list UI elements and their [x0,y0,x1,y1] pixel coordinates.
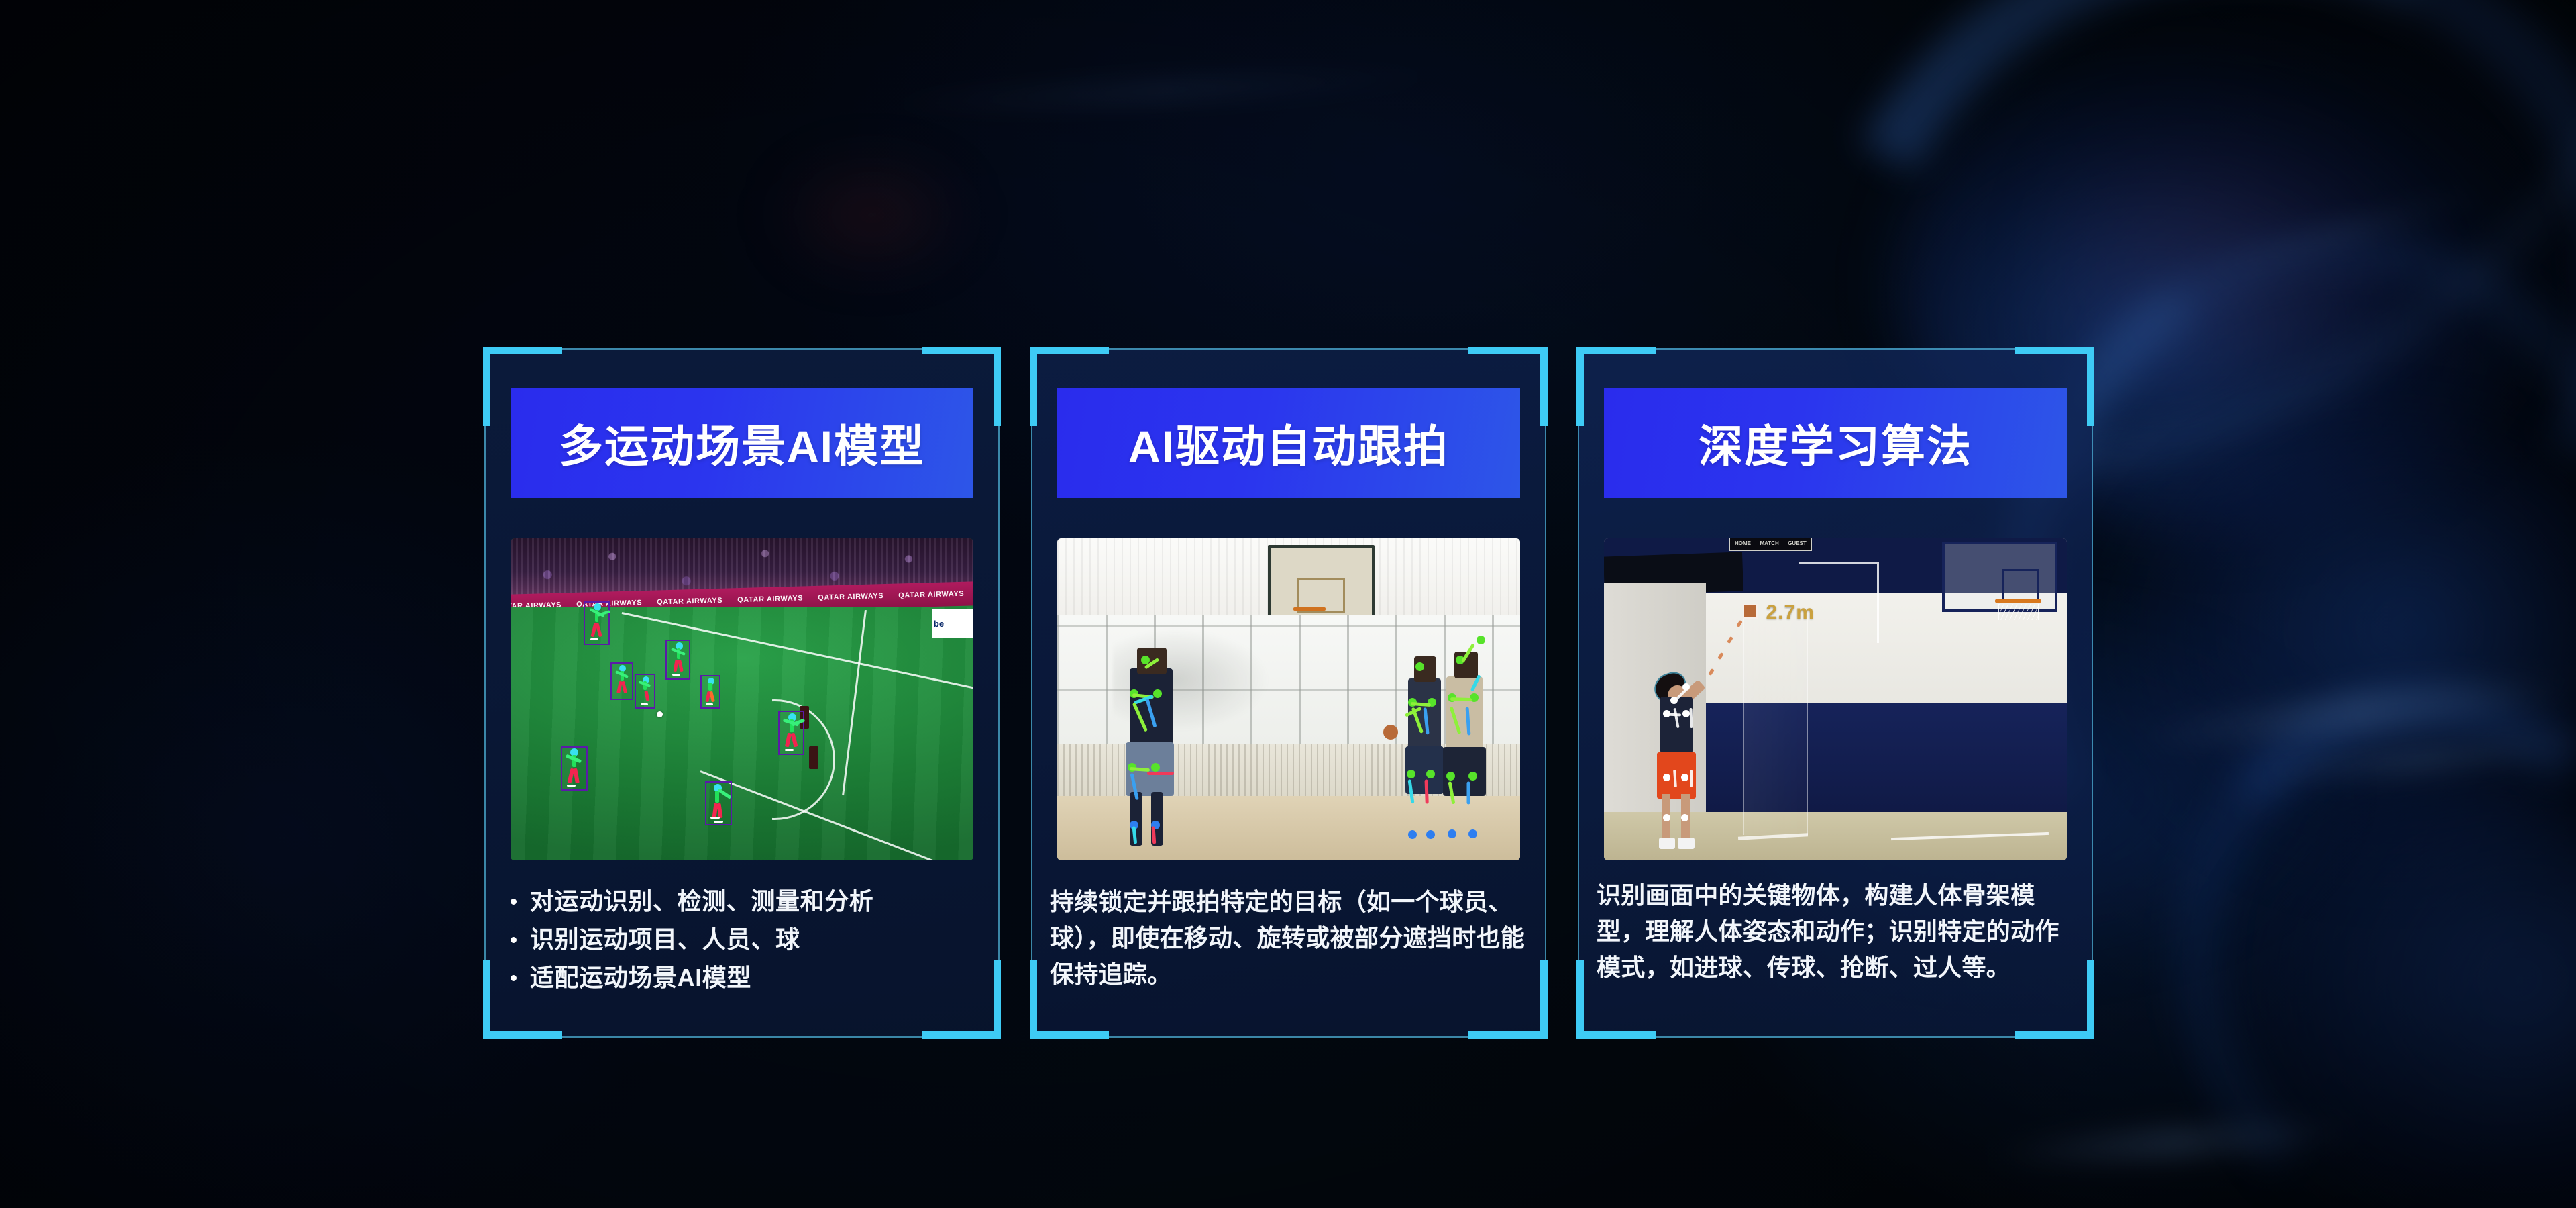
card-media-basketball-pose [1057,538,1520,860]
detection-box [635,674,655,709]
feature-bullet-list: 对运动识别、检测、测量和分析 识别运动项目、人员、球 适配运动场景AI模型 [511,884,973,996]
card-title: AI驱动自动跟拍 [1128,411,1449,475]
detection-box [705,781,732,825]
hoop-rim [1995,599,2041,603]
card-media-shot-trajectory: HOME MATCH GUEST 2.7m [1604,538,2067,860]
advert-banner-text: QATAR AIRWAYS [737,595,803,605]
card-body: 对运动识别、检测、测量和分析 识别运动项目、人员、球 适配运动场景AI模型 [511,884,973,999]
card-description: 识别画面中的关键物体，构建人体骨架模型，理解人体姿态和动作；识别特定的动作模式，… [1597,877,2077,986]
detection-box [584,601,610,645]
feature-card-row: 多运动场景AI模型 QATAR AIRWAYS QATAR AIRWAYS QA… [0,0,2576,1208]
ball-tracking-box [1743,604,1758,619]
player-unboxed [809,746,818,769]
hoop-net [1998,604,2039,620]
bullet-text: 识别运动项目、人员、球 [530,922,800,958]
player-shoe [1678,838,1694,849]
player-figure [1108,648,1205,854]
card-title: 多运动场景AI模型 [559,411,925,475]
detection-box [665,640,690,680]
feature-card-multi-sport-ai-model[interactable]: 多运动场景AI模型 QATAR AIRWAYS QATAR AIRWAYS QA… [484,348,1000,1038]
card-description: 持续锁定并跟拍特定的目标（如一个球员、球），即使在移动、旋转或被部分遮挡时也能保… [1050,884,1527,993]
pose-skeleton [1428,648,1506,854]
card-header-band: 多运动场景AI模型 [511,388,973,498]
bullet-dot-icon [511,899,517,905]
detection-box [778,711,804,755]
pitch-grass [511,607,973,860]
feature-card-deep-learning-algorithm[interactable]: 深度学习算法 HOME MATCH GUEST [1578,348,2093,1038]
gym-frame [1057,538,1520,860]
card-header-band: AI驱动自动跟拍 [1057,388,1520,498]
detection-box [561,746,588,791]
card-header-band: 深度学习算法 [1604,388,2067,498]
bullet-text: 对运动识别、检测、测量和分析 [530,884,873,919]
advert-banner-text: QATAR AIRWAYS [818,592,883,602]
measurement-guide-horizontal [1799,562,1877,564]
pose-skeleton [1108,648,1205,854]
scoreboard-label: HOME [1735,540,1751,546]
player-figure [1428,648,1506,854]
advert-banner-text: QATAR AIRWAYS [898,590,964,600]
pose-skeleton [562,748,586,789]
bullet-dot-icon [511,975,517,981]
hoop-rim [1293,607,1326,611]
pose-skeleton [706,783,731,824]
player-figure-shooter [1641,680,1715,848]
court-frame: HOME MATCH GUEST 2.7m [1604,538,2067,860]
card-media-soccer-detection: QATAR AIRWAYS QATAR AIRWAYS QATAR AIRWAY… [511,538,973,860]
backboard-inner-square [2002,569,2039,601]
bullet-item: 适配运动场景AI模型 [511,960,973,996]
card-body: 持续锁定并跟拍特定的目标（如一个球员、球），即使在移动、旋转或被部分遮挡时也能保… [1050,884,1527,993]
scoreboard-label: MATCH [1760,540,1778,546]
scoreboard-label: GUEST [1788,540,1807,546]
measurement-guide-vertical [1877,562,1879,643]
pose-skeleton [667,641,689,678]
pose-skeleton [636,675,654,707]
pose-skeleton [702,676,719,707]
distance-annotation: 2.7m [1766,601,1815,624]
pose-skeleton [612,664,632,699]
card-body: 识别画面中的关键物体，构建人体骨架模型，理解人体姿态和动作；识别特定的动作模式，… [1597,877,2077,986]
tracking-plane-overlay [1743,609,1808,835]
bullet-text: 适配运动场景AI模型 [530,960,751,996]
player-shoe [1659,838,1675,849]
soccer-pitch-frame: QATAR AIRWAYS QATAR AIRWAYS QATAR AIRWAY… [511,538,973,860]
scoreboard: HOME MATCH GUEST [1729,538,1812,551]
bullet-dot-icon [511,937,517,943]
detection-box [610,662,633,700]
pitch-sponsor-logo: be [932,609,973,638]
bullet-item: 识别运动项目、人员、球 [511,922,973,958]
feature-card-ai-auto-tracking[interactable]: AI驱动自动跟拍 [1031,348,1546,1038]
bullet-item: 对运动识别、检测、测量和分析 [511,884,973,919]
pose-skeleton [780,712,803,754]
card-title: 深度学习算法 [1699,411,1972,475]
pose-skeleton [585,603,608,644]
detection-box [700,675,720,709]
advert-banner-text: QATAR AIRWAYS [657,597,722,607]
